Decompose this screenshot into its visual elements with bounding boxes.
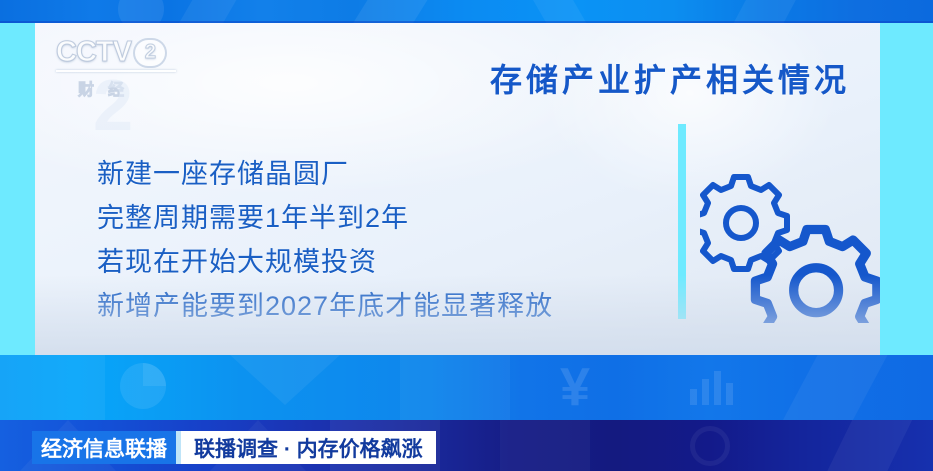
triangle-motif	[230, 355, 340, 405]
panel-bottom-fade	[35, 275, 880, 355]
ticker-program-label: 经济信息联播	[32, 431, 176, 464]
right-cyan-edge-strip	[880, 23, 933, 355]
logo-ghost-glyph: 2	[93, 65, 137, 147]
broadcast-graphic: CCTV 2 财经 2 存储产业扩产相关情况 新建一座存储晶圆厂 完整周期需要1…	[0, 0, 933, 471]
headline-title: 存储产业扩产相关情况	[490, 55, 850, 101]
circle-motif	[690, 426, 730, 466]
top-band-slant-motif	[176, 0, 240, 23]
ticker-bar: 经济信息联播 联播调查 · 内存价格飙涨	[32, 431, 436, 464]
left-cyan-edge-strip	[0, 23, 35, 355]
main-panel-wrapper: CCTV 2 财经 2 存储产业扩产相关情况 新建一座存储晶圆厂 完整周期需要1…	[0, 23, 933, 355]
top-band-slant-motif	[353, 0, 428, 23]
logo-channel-number: 2	[145, 41, 155, 64]
pie-chart-motif	[120, 363, 166, 409]
gear-small-icon	[700, 177, 787, 269]
band-block-motif	[0, 355, 105, 420]
band-block-motif	[500, 420, 590, 471]
content-panel: CCTV 2 财经 2 存储产业扩产相关情况 新建一座存储晶圆厂 完整周期需要1…	[35, 23, 880, 355]
yen-symbol-motif: ¥	[560, 358, 590, 416]
band-slant-motif	[823, 420, 917, 471]
bar-chart-motif	[690, 371, 733, 405]
body-line: 新建一座存储晶圆厂	[97, 152, 553, 196]
logo-channel-number-badge: 2	[133, 38, 167, 68]
body-line: 完整周期需要1年半到2年	[97, 196, 553, 240]
top-band-circle-motif	[118, 0, 164, 23]
lower-decor-band: ¥	[0, 355, 933, 420]
band-block-motif	[400, 355, 510, 420]
top-band-slant-motif	[732, 0, 798, 23]
top-band-slant-motif	[533, 0, 587, 23]
ticker-topic-label: 联播调查 · 内存价格飙涨	[181, 431, 436, 464]
band-slant-motif	[776, 355, 894, 420]
top-decor-band	[0, 0, 933, 23]
